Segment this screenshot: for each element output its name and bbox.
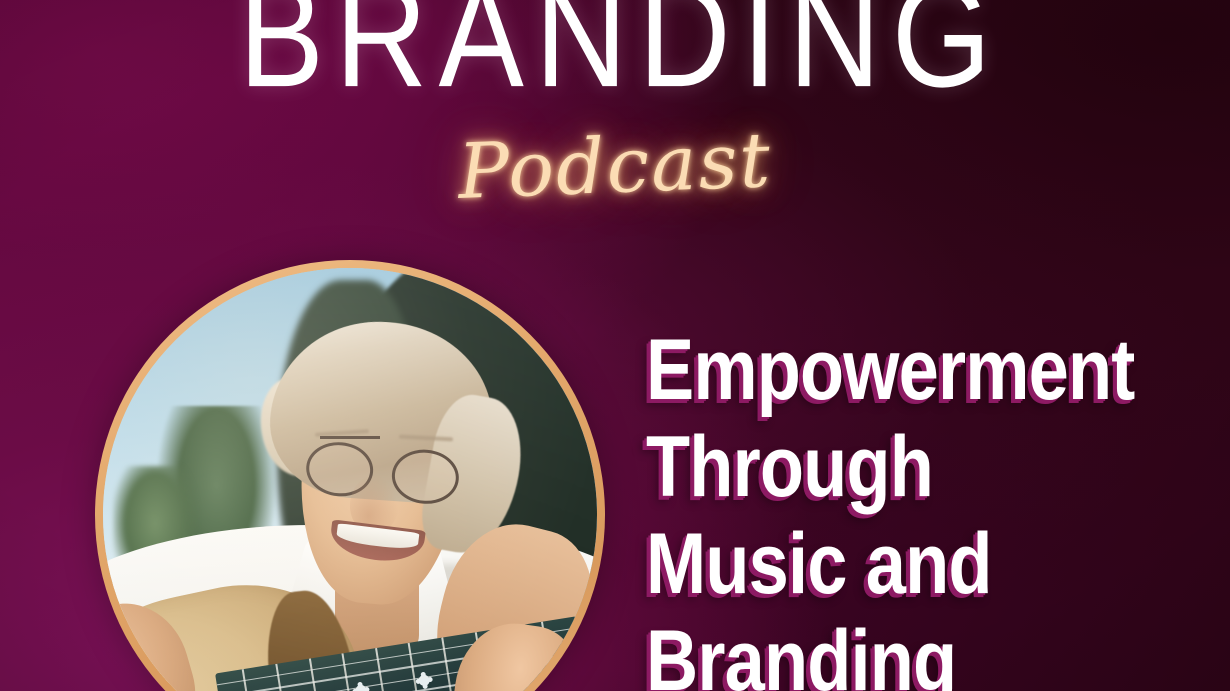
guest-photo-frame: [95, 260, 605, 691]
glasses-lens-right: [389, 447, 461, 507]
episode-title-line: Through: [646, 419, 1125, 516]
podcast-cover-artwork: BRANDING Podcast: [0, 0, 1230, 691]
guitar-fret: [341, 653, 357, 691]
guest-photo: [103, 268, 597, 691]
episode-title: Empowerment Through Music and Branding: [646, 322, 1125, 691]
episode-title-line: Music and: [646, 516, 1125, 613]
episode-title-line: Branding: [646, 613, 1125, 691]
show-wordmark: BRANDING: [0, 0, 1230, 110]
guitar-fret: [308, 659, 324, 691]
glasses-bridge: [320, 436, 379, 439]
episode-title-line: Empowerment: [646, 322, 1125, 419]
